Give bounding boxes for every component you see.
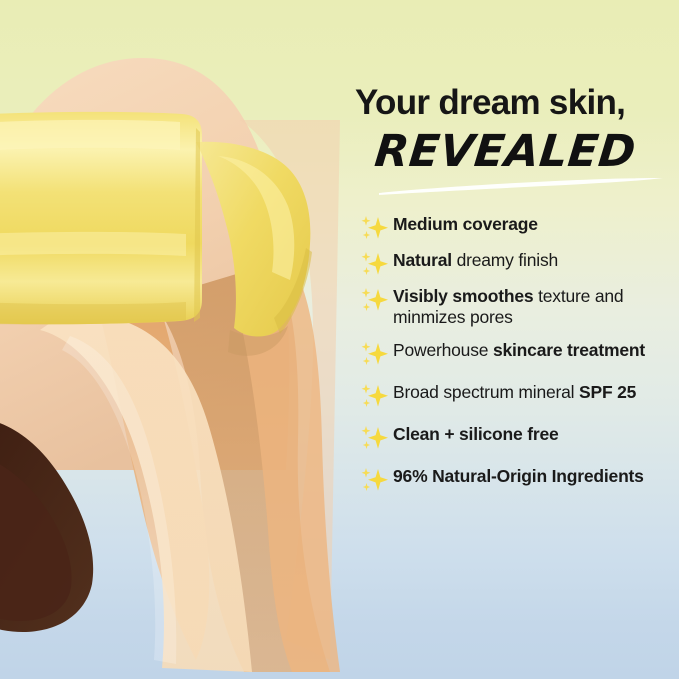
brush-underline-icon xyxy=(377,176,665,196)
list-item-regular: Broad spectrum mineral xyxy=(393,382,579,402)
sparkle-icon xyxy=(359,466,393,496)
list-item: 96% Natural-Origin Ingredients xyxy=(353,464,679,496)
list-item-bold: SPF 25 xyxy=(579,382,636,402)
list-item: Natural dreamy finish xyxy=(353,248,679,280)
list-item: Visibly smoothes texture and minmizes po… xyxy=(353,284,679,328)
list-item-bold: Natural xyxy=(393,250,452,270)
list-item: Powerhouse skincare treatment xyxy=(353,338,679,370)
list-item: Broad spectrum mineral SPF 25 xyxy=(353,380,679,412)
list-item-bold: Visibly smoothes xyxy=(393,286,533,306)
list-item-text: Natural dreamy finish xyxy=(393,248,679,271)
list-item-text: Visibly smoothes texture and minmizes po… xyxy=(393,284,679,328)
list-item-text: Clean + silicone free xyxy=(393,422,679,445)
sparkle-icon xyxy=(359,424,393,454)
sparkle-icon xyxy=(359,382,393,412)
sparkle-icon xyxy=(359,286,393,316)
feature-list: Medium coverage Natural dreamy finish Vi… xyxy=(353,212,679,500)
list-item: Medium coverage xyxy=(353,212,679,244)
list-item-bold: 96% Natural-Origin Ingredients xyxy=(393,466,644,486)
copy-column: Your dream skin, REVEALED Medium coverag… xyxy=(353,0,679,679)
product-artwork xyxy=(0,0,360,679)
product-feature-graphic: Your dream skin, REVEALED Medium coverag… xyxy=(0,0,679,679)
sparkle-icon xyxy=(359,340,393,370)
list-item-text: Medium coverage xyxy=(393,212,679,235)
headline-line-1: Your dream skin, xyxy=(355,83,625,123)
list-item: Clean + silicone free xyxy=(353,422,679,454)
list-item-text: Powerhouse skincare treatment xyxy=(393,338,679,361)
list-item-regular: Powerhouse xyxy=(393,340,493,360)
list-item-bold: Clean + silicone free xyxy=(393,424,559,444)
headline-line-2: REVEALED xyxy=(372,126,638,177)
sparkle-icon xyxy=(359,250,393,280)
list-item-bold: Medium coverage xyxy=(393,214,538,234)
list-item-text: Broad spectrum mineral SPF 25 xyxy=(393,380,679,403)
list-item-regular: dreamy finish xyxy=(452,250,558,270)
list-item-bold: skincare treatment xyxy=(493,340,645,360)
list-item-text: 96% Natural-Origin Ingredients xyxy=(393,464,679,487)
sparkle-icon xyxy=(359,214,393,244)
